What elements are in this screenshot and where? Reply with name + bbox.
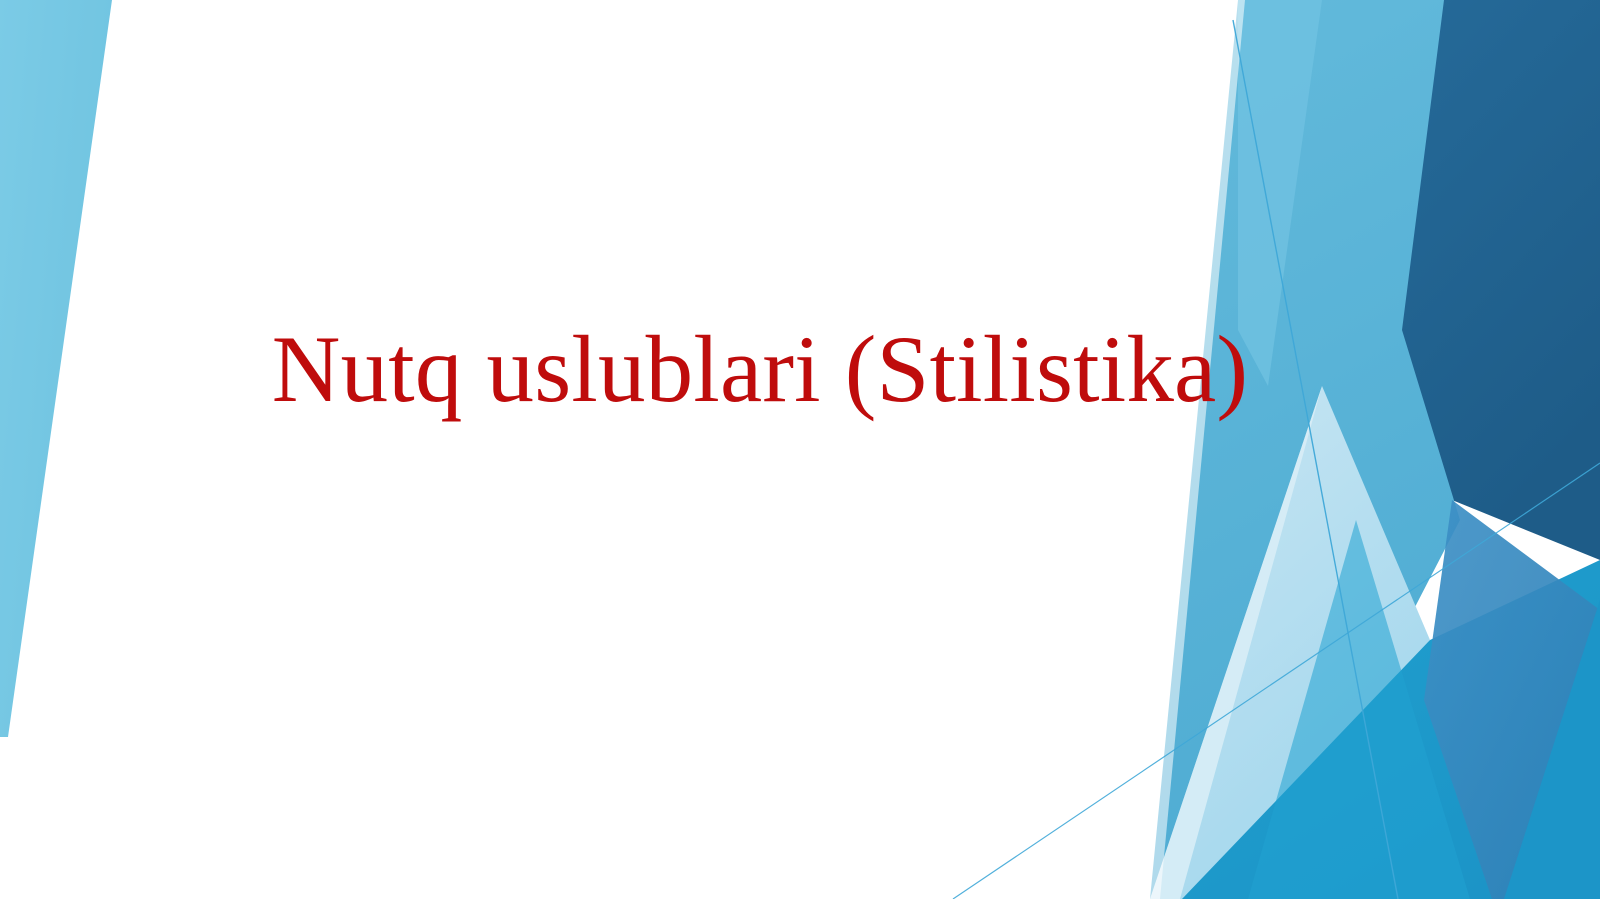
title-placeholder: Nutq uslublari (Stilistika) (0, 300, 1520, 440)
bottom-cyan-triangle (1248, 520, 1470, 899)
pale-triangle-shape (1150, 386, 1430, 899)
lower-cyan-wedge-shape (1182, 560, 1600, 899)
mid-band-highlight (1238, 0, 1322, 386)
left-wedge-shape (0, 0, 112, 737)
page-title: Nutq uslublari (Stilistika) (272, 320, 1248, 420)
presentation-slide: Nutq uslublari (Stilistika) (0, 0, 1600, 899)
slide-background-decoration (0, 0, 1600, 899)
hairline-steep-icon (1233, 20, 1398, 899)
hairline-shallow-icon (953, 463, 1600, 899)
right-dark-band-shape (1392, 0, 1600, 560)
pale-sliver-shape (1150, 386, 1322, 899)
right-light-band-shape (1150, 0, 1460, 899)
lower-steel-wedge-shape (1424, 500, 1600, 899)
slide-canvas (0, 0, 1600, 899)
inner-glow (1120, 0, 1245, 899)
right-corner-cyan (1504, 600, 1600, 899)
